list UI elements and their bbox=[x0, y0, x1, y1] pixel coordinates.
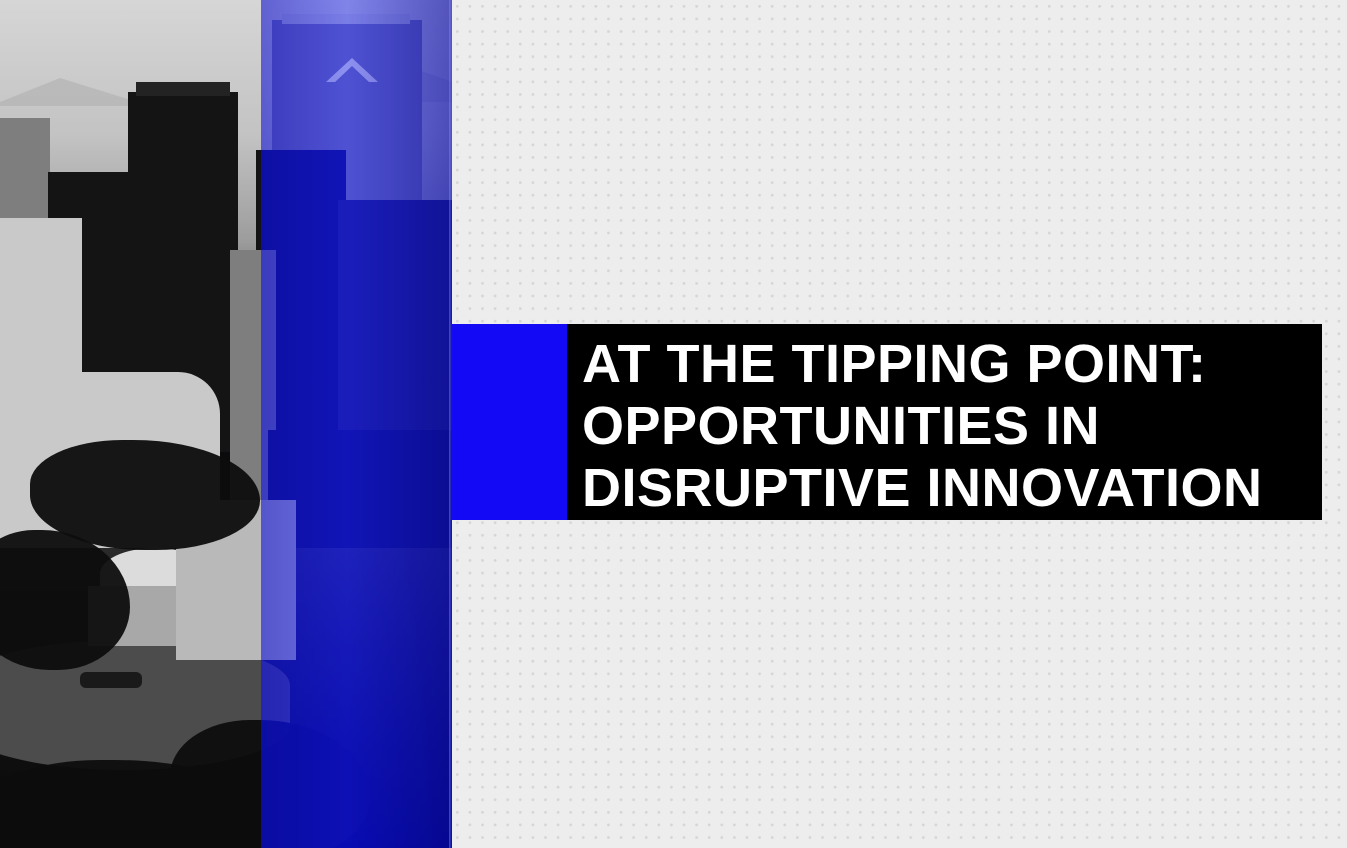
title-line-2: OPPORTUNITIES IN bbox=[582, 395, 1322, 457]
car-on-park-road bbox=[80, 672, 142, 688]
title-block: AT THE TIPPING POINT: OPPORTUNITIES IN D… bbox=[567, 324, 1322, 520]
aerial-cityscape-photo bbox=[0, 0, 452, 848]
title-line-3: DISRUPTIVE INNOVATION bbox=[582, 457, 1322, 519]
building-tower-center-cap bbox=[136, 82, 230, 96]
title-slide: AT THE TIPPING POINT: OPPORTUNITIES IN D… bbox=[0, 0, 1347, 848]
blue-duotone-overlay-shade bbox=[261, 0, 452, 848]
title-line-1: AT THE TIPPING POINT: bbox=[582, 333, 1322, 395]
blue-accent-block bbox=[452, 324, 568, 520]
